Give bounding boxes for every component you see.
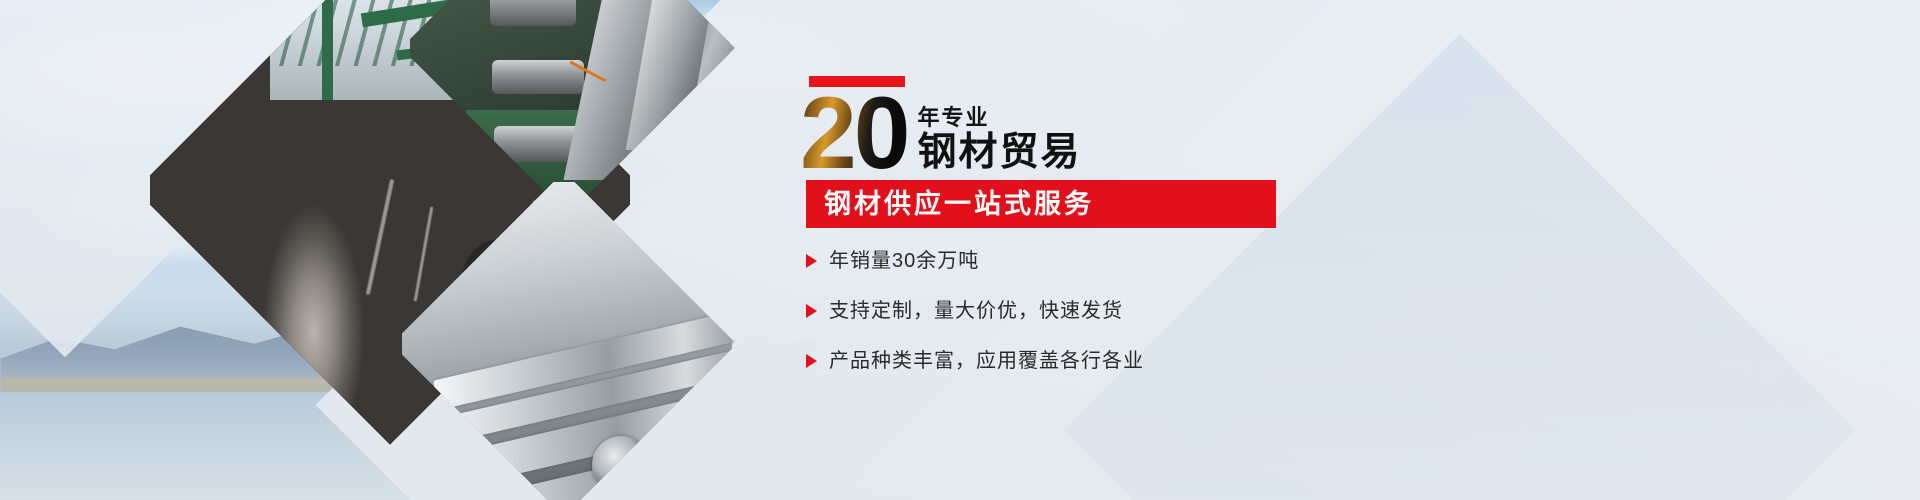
square-tube-bore [710,454,737,482]
round-tube [592,436,650,494]
slogan-text: 钢材供应一站式服务 [824,191,1094,218]
slogan-bar: 钢材供应一站式服务 [806,180,1276,228]
list-item: 年销量30余万吨 [804,248,1464,274]
square-tube [686,490,737,500]
feature-list: 年销量30余万吨 支持定制，量大价优，快速发货 产品种类丰富，应用覆盖各行各业 [804,248,1464,398]
list-item: 支持定制，量大价优，快速发货 [804,298,1464,324]
headline-text-group: 年专业 钢材贸易 [917,107,1081,180]
list-item: 产品种类丰富，应用覆盖各行各业 [804,348,1464,374]
list-item-label: 产品种类丰富，应用覆盖各行各业 [829,351,1144,371]
triangle-bullet-icon [806,304,817,318]
list-item-label: 支持定制，量大价优，快速发货 [829,301,1123,321]
triangle-bullet-icon [806,254,817,268]
round-tube [648,442,700,494]
square-tube [700,444,737,492]
years-number: 20 [800,88,917,180]
list-item-label: 年销量30余万吨 [829,251,979,271]
mill-roller [490,0,576,26]
years-suffix-label: 年专业 [917,107,1081,129]
promo-banner: 20 年专业 钢材贸易 钢材供应一站式服务 年销量30余万吨 支持定制，量大价优… [0,0,1920,500]
business-title: 钢材贸易 [917,133,1081,174]
photo-collage [150,0,770,500]
mill-roller [492,60,584,94]
headline-group: 20 年专业 钢材贸易 [800,88,1081,180]
banner-content: 20 年专业 钢材贸易 钢材供应一站式服务 年销量30余万吨 支持定制，量大价优… [800,0,1500,500]
triangle-bullet-icon [806,354,817,368]
